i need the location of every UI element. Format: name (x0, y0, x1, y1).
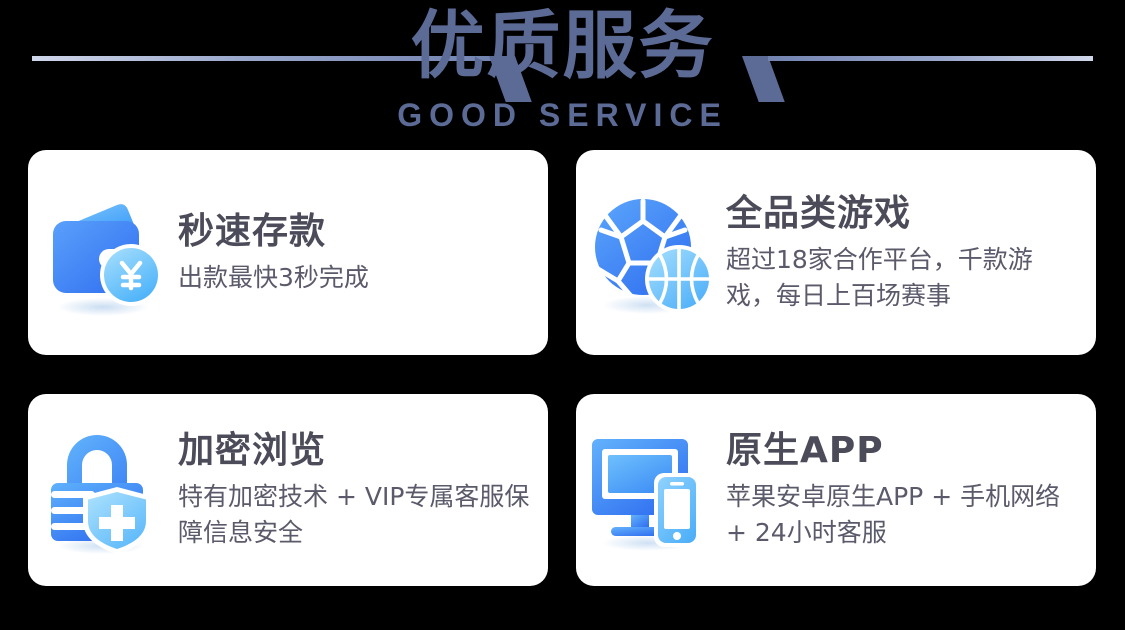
feature-card-title: 秒速存款 (178, 210, 532, 254)
page-subtitle: GOOD SERVICE (0, 97, 1125, 133)
feature-card-text: 全品类游戏 超过18家合作平台，千款游戏，每日上百场赛事 (726, 192, 1096, 314)
feature-card-subtitle: 苹果安卓原生APP + 手机网络 + 24小时客服 (726, 479, 1080, 551)
feature-card-grid: 秒速存款 出款最快3秒完成 (28, 150, 1098, 590)
monitor-phone-icon (576, 429, 726, 551)
feature-card-subtitle: 特有加密技术 + VIP专属客服保障信息安全 (178, 479, 532, 551)
banner-header: 优质服务 GOOD SERVICE (0, 0, 1125, 140)
soccer-basketball-icon (576, 189, 726, 317)
feature-card-text: 秒速存款 出款最快3秒完成 (178, 210, 548, 296)
feature-card-subtitle: 超过18家合作平台，千款游戏，每日上百场赛事 (726, 242, 1080, 314)
feature-card-deposit[interactable]: 秒速存款 出款最快3秒完成 (28, 150, 548, 355)
feature-card-title: 加密浏览 (178, 429, 532, 473)
wallet-yen-icon (28, 189, 178, 317)
feature-card-text: 加密浏览 特有加密技术 + VIP专属客服保障信息安全 (178, 429, 548, 551)
feature-card-subtitle: 出款最快3秒完成 (178, 260, 532, 296)
service-feature-banner: 优质服务 GOOD SERVICE (0, 0, 1125, 630)
feature-card-title: 原生APP (726, 429, 1080, 473)
lock-shield-icon (28, 425, 178, 555)
feature-card-title: 全品类游戏 (726, 192, 1080, 236)
feature-card-native-app[interactable]: 原生APP 苹果安卓原生APP + 手机网络 + 24小时客服 (576, 394, 1096, 586)
feature-card-encryption[interactable]: 加密浏览 特有加密技术 + VIP专属客服保障信息安全 (28, 394, 548, 586)
feature-card-games[interactable]: 全品类游戏 超过18家合作平台，千款游戏，每日上百场赛事 (576, 150, 1096, 355)
feature-card-text: 原生APP 苹果安卓原生APP + 手机网络 + 24小时客服 (726, 429, 1096, 551)
page-title: 优质服务 (0, 4, 1125, 88)
